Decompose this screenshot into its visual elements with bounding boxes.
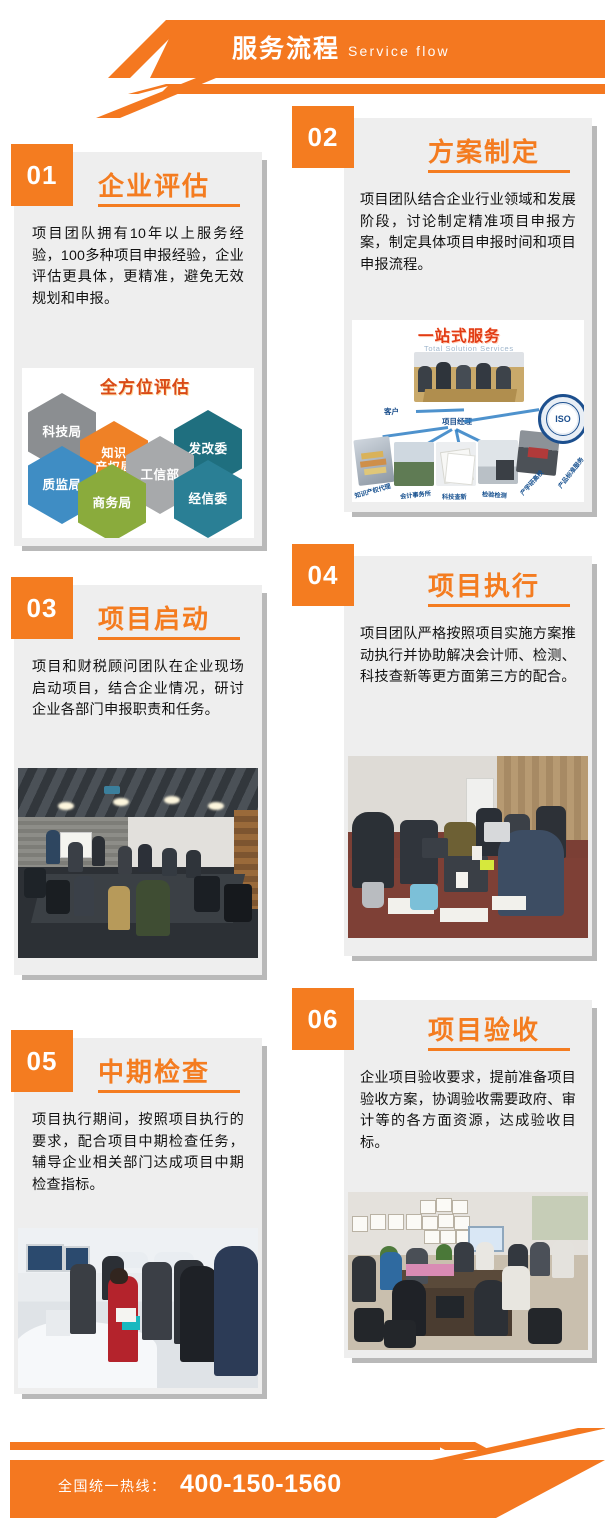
card-shadow-bottom (352, 512, 597, 517)
page-header: 服务流程 Service flow (0, 0, 605, 112)
step-title-01: 企业评估 (98, 166, 210, 203)
step-card-03[interactable]: 03 项目启动 项目和财税顾问团队在企业现场启动项目，结合企业情况，研讨企业各部… (14, 585, 262, 975)
onestop-photo-inspection (478, 440, 518, 484)
page-footer: 全国统一热线： 400-150-1560 (0, 1420, 605, 1538)
step-title-rule-05 (98, 1090, 240, 1093)
step-title-03: 项目启动 (98, 599, 210, 636)
card-shadow-right (262, 160, 267, 551)
step-body-02: 项目团队结合企业行业领域和发展阶段，讨论制定精准项目申报方案，制定具体项目申报时… (360, 190, 576, 276)
step-number-badge-02: 02 (292, 106, 354, 168)
step-title-rule-02 (428, 170, 570, 173)
step-title-rule-06 (428, 1048, 570, 1051)
step-body-05: 项目执行期间，按照项目执行的要求，配合项目中期检查任务，辅导企业相关部门达成项目… (32, 1110, 244, 1196)
meeting-room-photo (18, 768, 258, 958)
step-title-04: 项目执行 (428, 566, 540, 603)
onestop-label-search: 科技查新 (442, 492, 467, 501)
card-shadow-bottom (22, 546, 267, 551)
laptop-meeting-photo (348, 756, 588, 938)
page-title: 服务流程 (232, 30, 340, 68)
onestop-iso-seal: ISO (538, 394, 584, 444)
step-title-rule-01 (98, 204, 240, 207)
step-title-02: 方案制定 (428, 132, 540, 169)
step-body-03: 项目和财税顾问团队在企业现场启动项目，结合企业情况，研讨企业各部门申报职责和任务… (32, 657, 244, 722)
onestop-arrow-1 (416, 408, 464, 413)
page-subtitle: Service flow (348, 38, 450, 64)
onestop-photo-ip (353, 436, 394, 486)
card-shadow-right (592, 1008, 597, 1363)
onestop-photo-search (436, 442, 476, 486)
card-shadow-bottom (22, 975, 267, 980)
header-stripe (160, 84, 605, 94)
step-title-rule-04 (428, 604, 570, 607)
card-shadow-bottom (352, 1358, 597, 1363)
step-card-04[interactable]: 04 项目执行 项目团队严格按照项目实施方案推动执行并协助解决会计师、检测、科技… (344, 556, 592, 956)
hotline-number[interactable]: 400-150-1560 (180, 1470, 342, 1499)
step-card-06[interactable]: 06 项目验收 企业项目验收要求，提前准备项目验收方案，协调验收需要政府、审计等… (344, 1000, 592, 1358)
onestop-arrow-2 (464, 408, 540, 423)
step-number-badge-05: 05 (11, 1030, 73, 1092)
step-number-badge-03: 03 (11, 577, 73, 639)
card-shadow-right (592, 564, 597, 961)
hotline-label: 全国统一热线： (58, 1476, 167, 1496)
service-flow-page: 服务流程 Service flow 01 企业评估 项目团队拥有10年以上服务经… (0, 0, 605, 1538)
step-number-badge-01: 01 (11, 144, 73, 206)
step-title-05: 中期检查 (98, 1052, 210, 1089)
onestop-client-node: 客户 (384, 406, 399, 417)
onestop-label-accounting: 会计事务所 (400, 488, 432, 500)
footer-stripe (10, 1442, 440, 1450)
step-body-06: 企业项目验收要求，提前准备项目验收方案，协调验收需要政府、审计等的各方面资源，达… (360, 1068, 576, 1154)
card-shadow-right (262, 593, 267, 980)
onestop-top-photo (414, 352, 524, 402)
step-card-02[interactable]: 02 方案制定 项目团队结合企业行业领域和发展阶段，讨论制定精准项目申报方案，制… (344, 118, 592, 512)
step-number-badge-06: 06 (292, 988, 354, 1050)
step-card-05[interactable]: 05 中期检查 项目执行期间，按照项目执行的要求，配合项目中期检查任务，辅导企业… (14, 1038, 262, 1394)
step-title-06: 项目验收 (428, 1010, 540, 1047)
card-shadow-bottom (22, 1394, 267, 1399)
showroom-visit-photo (18, 1228, 258, 1388)
card-shadow-right (592, 126, 597, 517)
step-card-01[interactable]: 01 企业评估 项目团队拥有10年以上服务经验，100多种项目申报经验，企业评估… (14, 152, 262, 546)
hexagon-assessment-diagram: 全方位评估 科技局 知识 产权局 发改委 质监局 工信部 商务局 经信委 (22, 368, 254, 538)
conference-room-photo (348, 1192, 588, 1350)
hex-diagram-title: 全方位评估 (100, 373, 190, 398)
step-body-01: 项目团队拥有10年以上服务经验，100多种项目申报经验，企业评估更具体，更精准，… (32, 224, 244, 310)
one-stop-service-diagram: 一站式服务 Total Solution Services 客户 项目经理 (352, 320, 584, 502)
onestop-photo-accounting (394, 442, 434, 486)
onestop-title: 一站式服务 (418, 324, 501, 346)
footer-band-diagonal (450, 1460, 605, 1518)
onestop-label-inspection: 检验检测 (482, 489, 507, 500)
step-title-rule-03 (98, 637, 240, 640)
card-shadow-right (262, 1046, 267, 1399)
onestop-label-standards: 产品标准服务 (556, 455, 584, 490)
card-shadow-bottom (352, 956, 597, 961)
step-body-04: 项目团队严格按照项目实施方案推动执行并协助解决会计师、检测、科技查新等更方面第三… (360, 624, 576, 689)
step-number-badge-04: 04 (292, 544, 354, 606)
